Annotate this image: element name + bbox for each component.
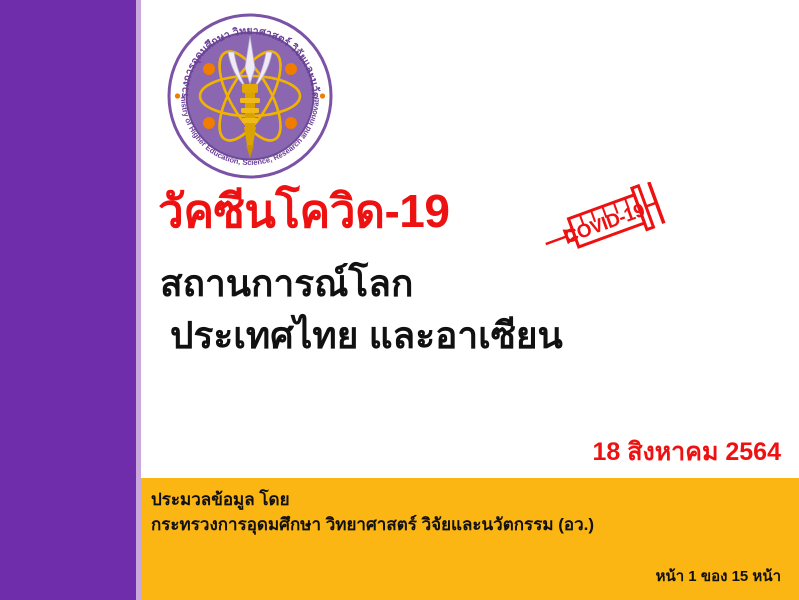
footer-credit-line-1: ประมวลข้อมูล โดย (151, 488, 594, 513)
title-block: วัคซีนโควิด-19 (158, 186, 788, 360)
page-title: วัคซีนโควิด-19 (158, 186, 788, 238)
footer-credit-line-2: กระทรวงการอุดมศึกษา วิทยาศาสตร์ วิจัยและ… (151, 513, 594, 538)
footer-credit: ประมวลข้อมูล โดย กระทรวงการอุดมศึกษา วิท… (151, 488, 594, 537)
subtitle-line-1: สถานการณ์โลก (160, 260, 788, 308)
subtitle-line-2: ประเทศไทย และอาเซียน (170, 312, 788, 360)
presentation-date: 18 สิงหาคม 2564 (592, 432, 781, 472)
slide-canvas: กระทรวงการอุดมศึกษา วิทยาศาสตร์ วิจัยและ… (0, 0, 799, 600)
ministry-emblem-logo: กระทรวงการอุดมศึกษา วิทยาศาสตร์ วิจัยและ… (166, 12, 334, 180)
footer-band: ประมวลข้อมูล โดย กระทรวงการอุดมศึกษา วิท… (141, 478, 799, 600)
left-purple-band (0, 0, 136, 600)
syringe-icon: COVID-19 (533, 182, 673, 258)
syringe-badge-label: COVID-19 (562, 200, 648, 248)
page-title-text: วัคซีนโควิด-19 (158, 185, 449, 237)
page-indicator: หน้า 1 ของ 15 หน้า (656, 564, 781, 588)
